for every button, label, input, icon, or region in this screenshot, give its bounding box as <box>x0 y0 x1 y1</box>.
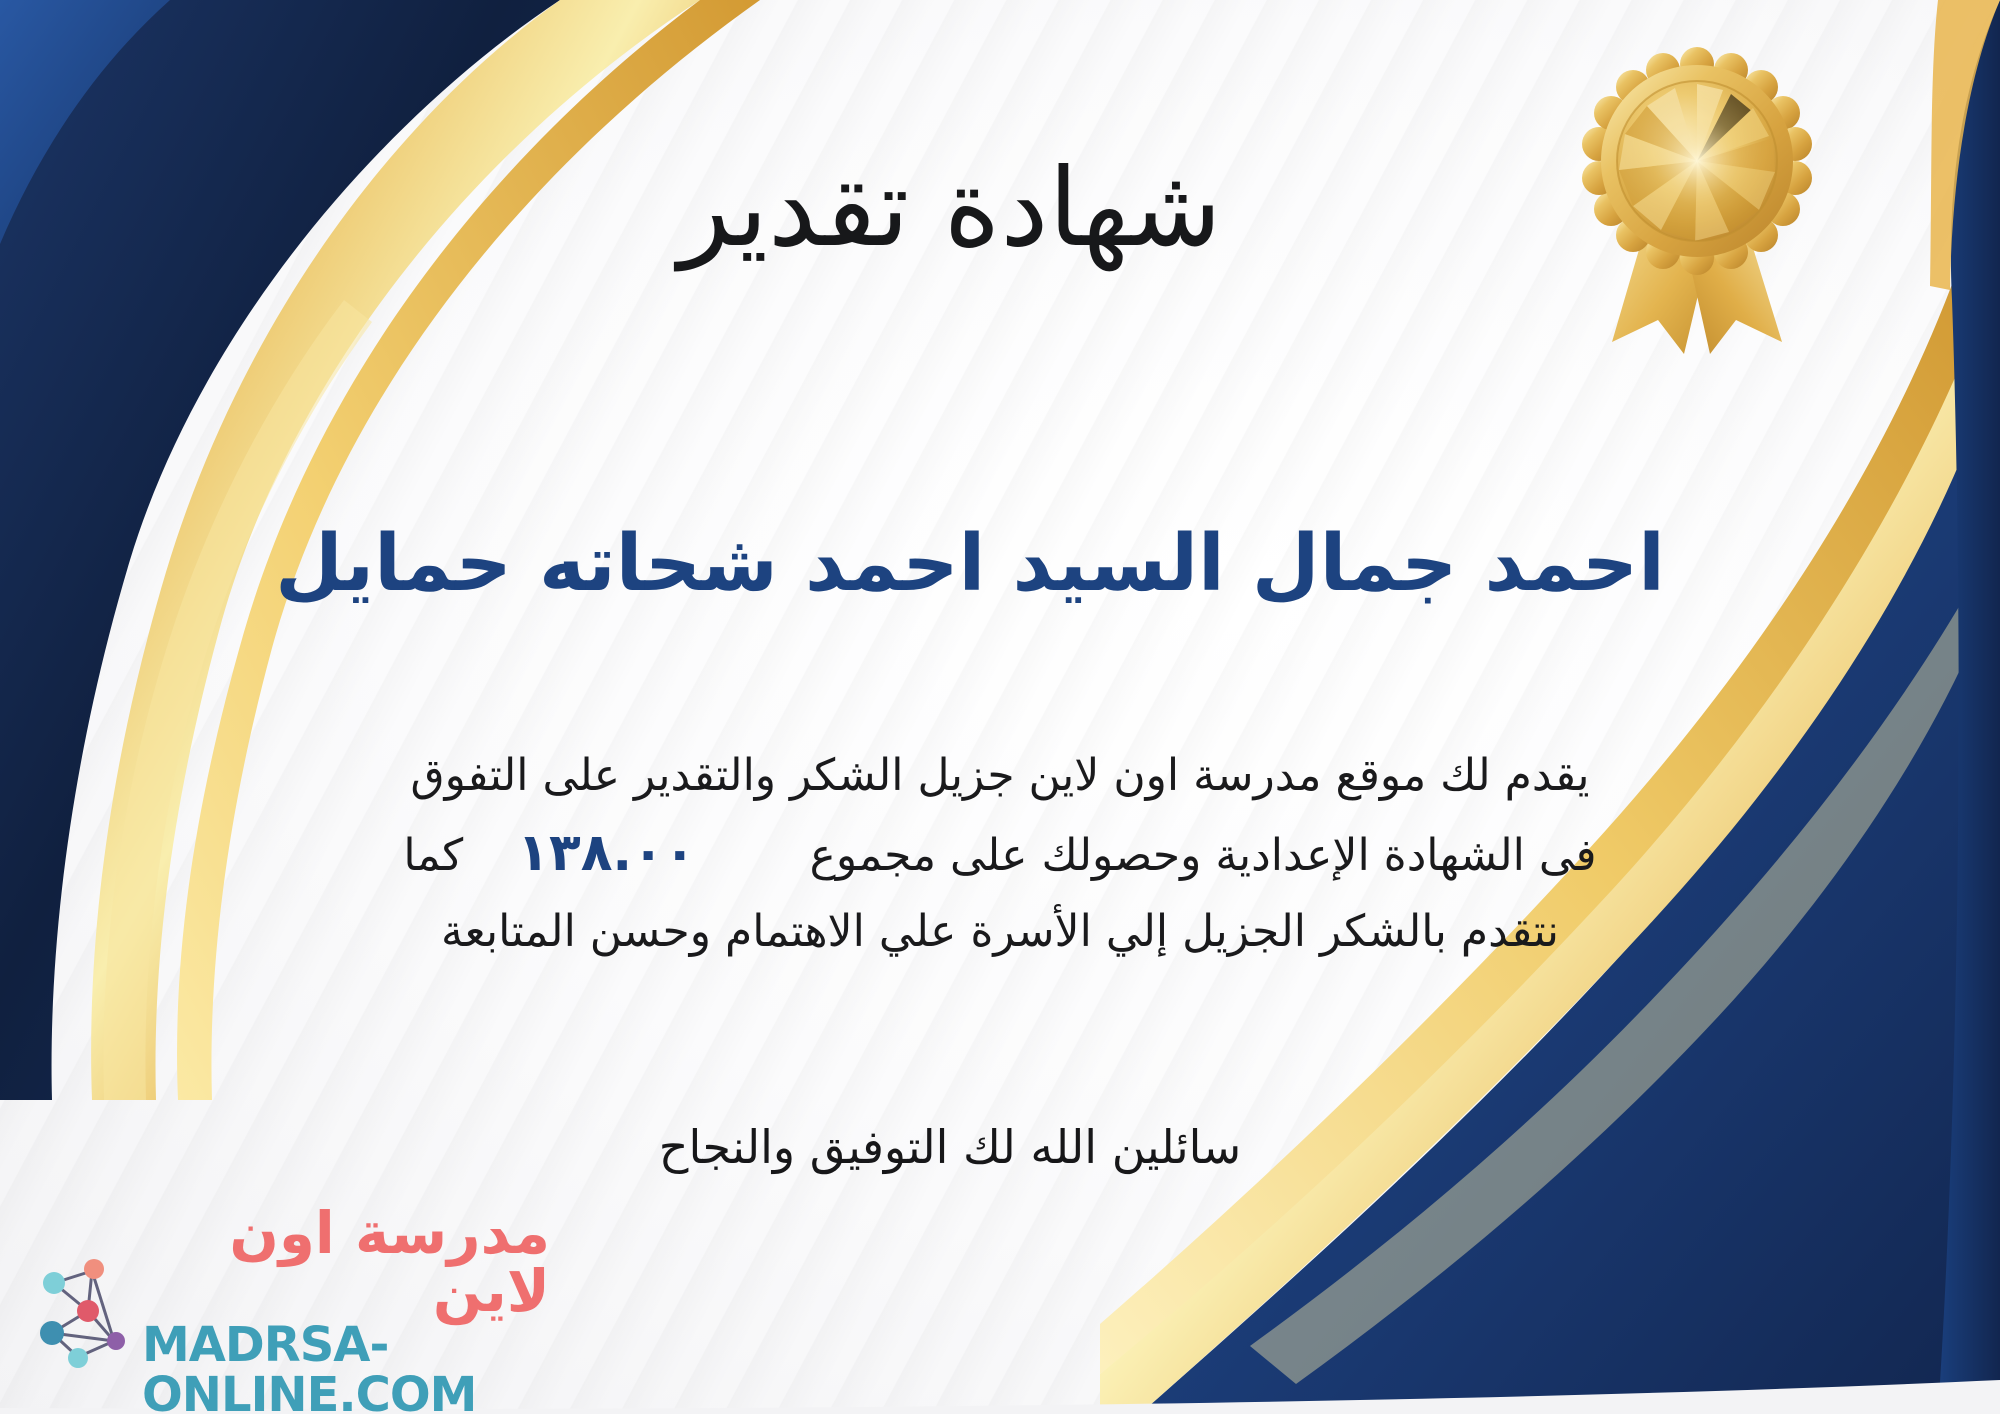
logo-text: مدرسة اون لاين MADRSA-ONLINE.COM <box>142 1204 550 1414</box>
body-line-3: نتقدم بالشكر الجزيل إلي الأسرة علي الاهت… <box>60 896 1940 967</box>
logo-website: MADRSA-ONLINE.COM <box>142 1320 550 1414</box>
certificate-document: شهادة تقدير احمد جمال السيد احمد شحاته ح… <box>0 0 2000 1414</box>
body-line-2-suffix: كما <box>403 830 463 881</box>
body-line-1: يقدم لك موقع مدرسة اون لاين جزيل الشكر و… <box>60 740 1940 811</box>
body-line-2: فى الشهادة الإعدادية وحصولك على مجموع ١٣… <box>60 811 1940 895</box>
body-line-2-prefix: فى الشهادة الإعدادية وحصولك على مجموع <box>810 830 1597 881</box>
student-name: احمد جمال السيد احمد شحاته حمايل <box>0 520 1940 610</box>
grade-total-value: ١٣٨.٠٠ <box>477 823 735 883</box>
site-logo[interactable]: مدرسة اون لاين MADRSA-ONLINE.COM <box>30 1232 550 1392</box>
logo-arabic-name: مدرسة اون لاين <box>142 1204 550 1320</box>
closing-wish-line: سائلين الله لك التوفيق والنجاح <box>0 1120 1900 1174</box>
page-title: شهادة تقدير <box>0 152 1900 265</box>
certificate-body: يقدم لك موقع مدرسة اون لاين جزيل الشكر و… <box>60 740 1940 967</box>
network-nodes-icon <box>30 1253 136 1371</box>
